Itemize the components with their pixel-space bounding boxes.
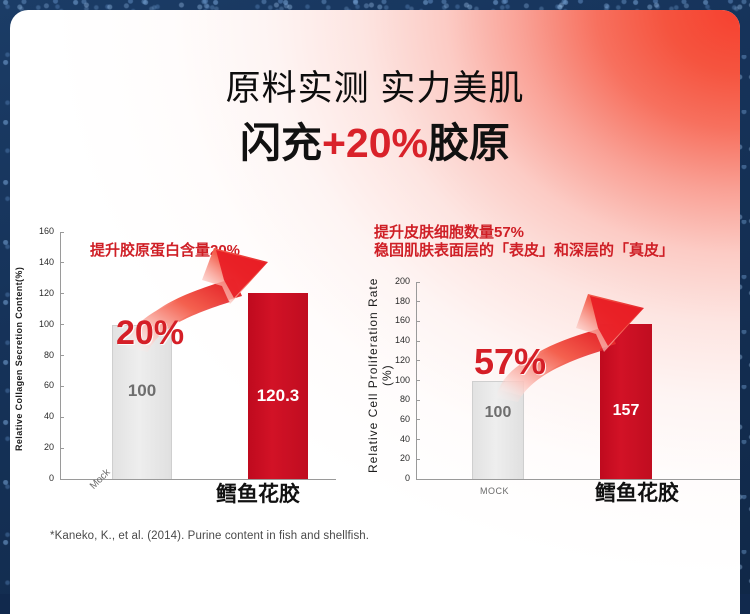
chart-proliferation-title-line2: 稳固肌肤表面层的「表皮」和深层的「真皮」 [374, 242, 674, 260]
headline-primary: 原料实测 实力美肌 [10, 68, 740, 110]
xlabel-test: 鳕鱼花胶 [595, 477, 679, 507]
chart-proliferation-title: 提升皮肤细胞数量57% 稳固肌肤表面层的「表皮」和深层的「真皮」 [374, 224, 674, 260]
headline-prefix: 闪充 [240, 120, 322, 166]
chart-proliferation-ylabel: Relative Cell Proliferation Rate (%) [366, 266, 394, 484]
y-axis-line [416, 282, 417, 480]
headline-secondary: 闪充+20%胶原 [10, 118, 740, 168]
bar-mock-value: 100 [113, 381, 171, 401]
headline-accent: +20% [322, 120, 428, 166]
bar-mock-value: 100 [473, 404, 523, 422]
headline-suffix: 胶原 [428, 120, 510, 166]
xlabel-mock: MOCK [480, 486, 509, 496]
chart-proliferation-annotation: 57% [474, 344, 546, 380]
bar-test: 120.3 [248, 293, 308, 479]
footnote-citation: *Kaneko, K., et al. (2014). Purine conte… [50, 530, 369, 542]
chart-proliferation: 提升皮肤细胞数量57% 稳固肌肤表面层的「表皮」和深层的「真皮」 Relativ… [358, 220, 740, 520]
y-axis-line [60, 232, 61, 480]
chart-collagen-annotation: 20% [116, 316, 184, 350]
chart-proliferation-title-line1: 提升皮肤细胞数量57% [374, 224, 674, 242]
content-card: 原料实测 实力美肌 闪充+20%胶原 提升胶原蛋白含量20% Relative … [10, 10, 740, 614]
bar-test: 157 [600, 324, 652, 479]
x-axis-line [416, 479, 740, 480]
chart-collagen: 提升胶原蛋白含量20% Relative Collagen Secretion … [10, 220, 350, 520]
bar-mock: 100 [472, 381, 524, 480]
chart-collagen-ylabel: Relative Collagen Secretion Content(%) [14, 244, 24, 474]
bar-test-value: 157 [600, 402, 652, 420]
xlabel-test: 鳕鱼花胶 [216, 478, 300, 508]
bar-test-value: 120.3 [248, 386, 308, 406]
chart-proliferation-plot: 200180160140120100806040200 100 157 [416, 282, 740, 480]
chart-collagen-plot: 160140120100806040200 100 120.3 [60, 232, 336, 480]
